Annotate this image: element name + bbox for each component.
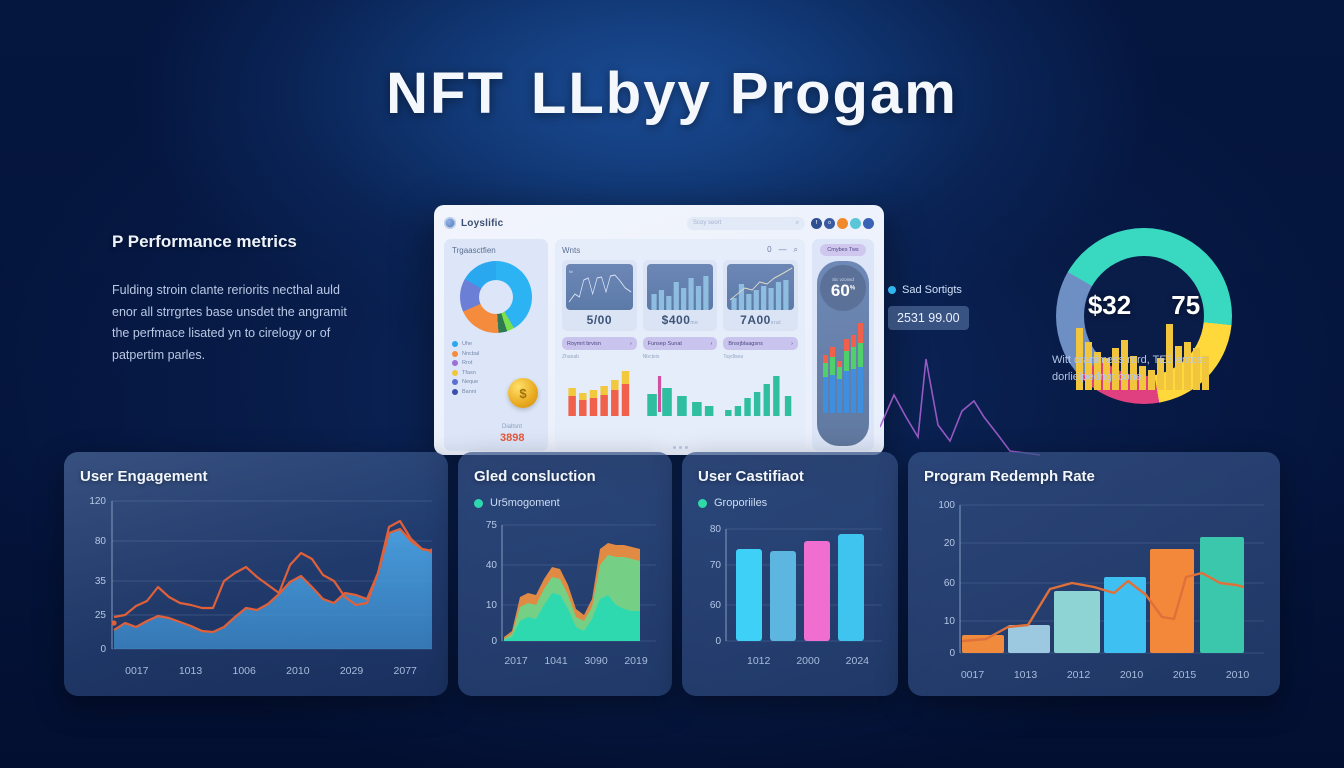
panel-title: User Castifiaot [698,468,882,485]
donut-values: $32 75 [1056,290,1232,321]
mini-card[interactable]: $400me [643,260,718,331]
coin-label: Dialtsnt [502,424,522,430]
metrics-controls: 0 — ⌕ [767,245,798,255]
gauge-stacked-bars [821,317,865,413]
panel-title: Program Redemph Rate [924,468,1264,485]
panel-user-castifiaot: User Castifiaot Groporiiles 80 70 60 0 1… [682,452,898,696]
xtick-label: 3090 [576,655,616,667]
xtick-label: 2010 [1105,669,1158,681]
panel-title: User Engagement [80,468,432,485]
ytick-label: 80 [95,536,107,547]
panel-gled-consluction: Gled consluction Ur5mogoment 75 40 10 0 … [458,452,672,696]
xtick-label: 1013 [999,669,1052,681]
chevron-right-icon: › [791,341,793,347]
minus-icon[interactable]: — [779,245,787,255]
ytick-label: 70 [710,560,722,571]
avatar-group: f o [811,218,874,229]
legend-label: Groporiiles [714,497,767,509]
pill-button[interactable]: Roymrt brvisn› [562,337,637,350]
mini-card-value: 5/00 [566,313,633,327]
ytick-label: 60 [944,578,956,589]
search-placeholder: Scoy seort [693,220,721,226]
mini-card-value: 7A00srat [727,313,794,327]
xtick-label: 2077 [378,665,432,677]
x-axis-labels: 0017 1013 2012 2010 2015 2010 [924,669,1264,681]
xtick-label: 2015 [1158,669,1211,681]
performance-metrics-heading: P Performance metrics [112,232,362,252]
legend-dot-icon [698,499,707,508]
user-castifiaot-bar-chart: 80 70 60 0 [698,517,882,653]
bar-chart [643,362,718,416]
dashboard-body: Trgaasctfien Uhe Nncbal Rrot Tfasn Neque… [444,239,874,451]
dashboard-search-input[interactable]: Scoy seort ⌕ [687,217,805,230]
x-axis-labels: 2017 1041 3090 2019 [474,655,656,667]
gauge-tag[interactable]: Cmybes Tws [820,244,865,256]
user-engagement-area-chart: 120 80 35 25 0 [80,493,432,663]
stacked-bar-chart [562,362,637,416]
transactions-donut-chart [460,261,532,333]
panel-title: Gled consluction [474,468,656,485]
mini-card-value: $400me [647,313,714,327]
ytick-label: 0 [715,636,721,647]
xtick-label: 0017 [946,669,999,681]
ytick-label: 80 [710,524,722,535]
ytick-label: 0 [949,648,955,659]
avatar[interactable]: o [824,218,835,229]
avatar[interactable] [850,218,861,229]
xtick-label: 2010 [271,665,325,677]
pill-button[interactable]: Funsep Sunat› [643,337,718,350]
legend-item: Rrot [452,360,540,366]
donut-value-left: $32 [1088,290,1131,321]
dashboard-header: Loyslific Scoy seort ⌕ f o [444,213,874,233]
chevron-right-icon: › [630,341,632,347]
dashboard-gauge-panel: Cmybes Tws Sic vzonsd 60% [812,239,874,451]
title-word-3: Progam [730,61,958,126]
xtick-label: 2024 [833,655,882,667]
ytick-label: 10 [486,600,498,611]
coin-value: 3898 [500,432,524,444]
gauge-value: 60% [831,282,855,299]
dashboard-metrics-panel: Wnts 0 — ⌕ Mn 5/00 [555,239,805,451]
search-icon[interactable]: ⌕ [796,220,799,227]
panel-user-engagement: User Engagement 120 80 35 25 0 0017 1013… [64,452,448,696]
xtick-label: 1041 [536,655,576,667]
avatar[interactable]: f [811,218,822,229]
xtick-label: 1012 [734,655,783,667]
page-title: NFTLLbyy Progam [0,60,1344,127]
panel-program-redemph-rate: Program Redemph Rate 100 20 60 10 0 0017… [908,452,1280,696]
bar-chart [723,362,798,416]
title-word-1: NFT [386,61,505,126]
gauge-circle: Sic vzonsd 60% [820,265,866,311]
legend-label: Ur5mogoment [490,497,560,509]
ytick-label: 120 [89,496,106,507]
bar-chart-row: Zhanab Nbcteis [562,354,798,416]
logo-icon [444,217,456,229]
bar-cell-caption: Taydlsea [723,354,798,360]
legend-item: Nncbal [452,351,540,357]
logo-label: Loyslific [461,218,503,229]
annotation-value-chip: 2531 99.00 [888,306,969,330]
ytick-label: 0 [100,644,106,655]
legend-item: Uhe [452,341,540,347]
annotation-label: Sad Sortigts [888,284,969,296]
mini-card[interactable]: 7A00srat [723,260,798,331]
panel-legend: Ur5mogoment [474,497,656,509]
mini-bar-chart [647,264,714,310]
donut-caption: Witt cranimess rord, TE3 entcst dorlielp… [1052,352,1242,386]
xtick-label: 2029 [325,665,379,677]
status-dot-icon [888,286,896,294]
gauge-card: Sic vzonsd 60% [817,261,869,446]
annotation-text: Sad Sortigts [902,284,962,296]
legend-dot-icon [474,499,483,508]
background-sparkline [880,355,1040,460]
zoom-value[interactable]: 0 [767,245,771,255]
program-redemph-rate-chart: 100 20 60 10 0 [924,495,1264,667]
pill-row: Roymrt brvisn› Funsep Sunat› Bnsrjblaags… [562,337,798,350]
xtick-label: 2012 [1052,669,1105,681]
bar-cell-caption: Zhanab [562,354,637,360]
ytick-label: 75 [486,520,498,531]
bar-cell: Zhanab [562,354,637,416]
ytick-label: 20 [944,538,956,549]
metrics-header: Wnts 0 — ⌕ [562,245,798,255]
ytick-label: 25 [95,610,107,621]
svg-text:Mn: Mn [569,270,573,275]
mini-card-row: Mn 5/00 [562,260,798,331]
bar-group [736,534,864,641]
avatar[interactable] [837,218,848,229]
xtick-label: 1006 [217,665,271,677]
dashboard-transactions-panel: Trgaasctfien Uhe Nncbal Rrot Tfasn Neque… [444,239,548,451]
xtick-label: 0017 [110,665,164,677]
avatar[interactable] [863,218,874,229]
chevron-right-icon: › [711,341,713,347]
carousel-dots[interactable] [555,446,805,449]
xtick-label: 2019 [616,655,656,667]
metrics-title: Wnts [562,246,580,255]
xtick-label: 1013 [164,665,218,677]
bar-cell: Taydlsea [723,354,798,416]
performance-metrics-block: P Performance metrics Fulding stroin cla… [112,232,362,366]
xtick-label: 2000 [783,655,832,667]
coin-icon: $ [508,378,538,408]
ytick-label: 10 [944,616,956,627]
sad-sortigts-annotation: Sad Sortigts 2531 99.00 [888,284,969,330]
performance-metrics-body: Fulding stroin clante reriorits necthal … [112,280,362,366]
ytick-label: 60 [710,600,722,611]
transactions-title: Trgaasctfien [452,246,540,255]
x-axis-labels: 1012 2000 2024 [698,655,882,667]
xtick-label: 2017 [496,655,536,667]
dashboard-logo: Loyslific [444,217,503,229]
mini-combo-chart [727,264,794,310]
donut-value-right: 75 [1171,290,1200,321]
panel-legend: Groporiiles [698,497,882,509]
gled-consluction-area-chart: 75 40 10 0 [474,517,656,653]
xtick-label: 2010 [1211,669,1264,681]
ytick-label: 35 [95,576,107,587]
ytick-label: 100 [938,500,955,511]
dashboard-mockup: Loyslific Scoy seort ⌕ f o Trgaasctfien … [434,205,884,455]
search-icon[interactable]: ⌕ [794,245,798,255]
ytick-label: 0 [491,636,497,647]
mini-line-chart: Mn [566,264,633,310]
mini-card[interactable]: Mn 5/00 [562,260,637,331]
bar-cell: Nbcteis [643,354,718,416]
bar-cell-caption: Nbcteis [643,354,718,360]
ytick-label: 40 [486,560,498,571]
pill-button[interactable]: Bnsrjblaagsns› [723,337,798,350]
bar-group [962,537,1244,653]
x-axis-labels: 0017 1013 1006 2010 2029 2077 [80,665,432,677]
title-word-2: LLbyy [531,61,712,126]
legend-item: Tfasn [452,370,540,376]
